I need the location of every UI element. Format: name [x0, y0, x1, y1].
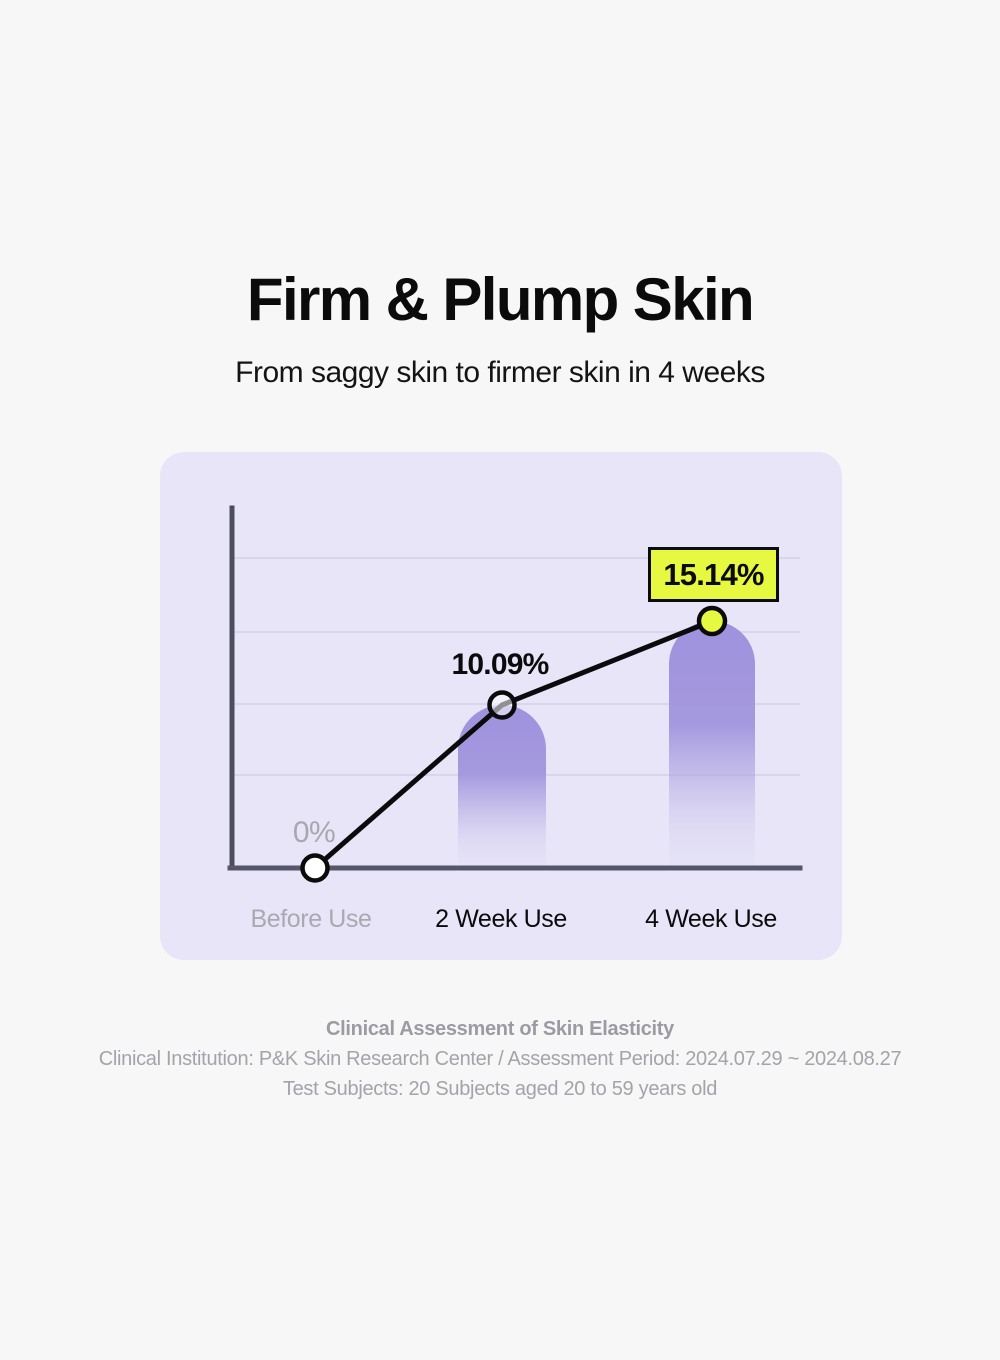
promo-page: Firm & Plump Skin From saggy skin to fir… — [0, 0, 1000, 1360]
x-axis-label-2-week: 2 Week Use — [401, 903, 601, 936]
data-label-before-use: 0% — [268, 816, 360, 850]
data-label-2-week: 10.09% — [430, 648, 570, 682]
chart-plot-area — [160, 452, 842, 960]
marker-4-week[interactable] — [699, 608, 725, 634]
marker-2-week[interactable] — [490, 693, 515, 718]
footer-block: Clinical Assessment of Skin Elasticity C… — [0, 1018, 1000, 1101]
chart-svg — [160, 452, 842, 960]
footer-test-subjects: Test Subjects: 20 Subjects aged 20 to 59… — [0, 1078, 1000, 1101]
page-subtitle: From saggy skin to firmer skin in 4 week… — [0, 355, 1000, 391]
page-title: Firm & Plump Skin — [0, 268, 1000, 331]
bar-4-week — [669, 621, 755, 868]
x-axis-label-4-week: 4 Week Use — [611, 903, 811, 936]
footer-institution-period: Clinical Institution: P&K Skin Research … — [0, 1048, 1000, 1071]
header-block: Firm & Plump Skin From saggy skin to fir… — [0, 268, 1000, 391]
marker-before-use[interactable] — [303, 856, 328, 881]
chart-card — [160, 452, 842, 960]
data-label-4-week-badge: 15.14% — [648, 547, 779, 602]
footer-study-title: Clinical Assessment of Skin Elasticity — [0, 1018, 1000, 1041]
x-axis-label-before-use: Before Use — [211, 903, 411, 936]
